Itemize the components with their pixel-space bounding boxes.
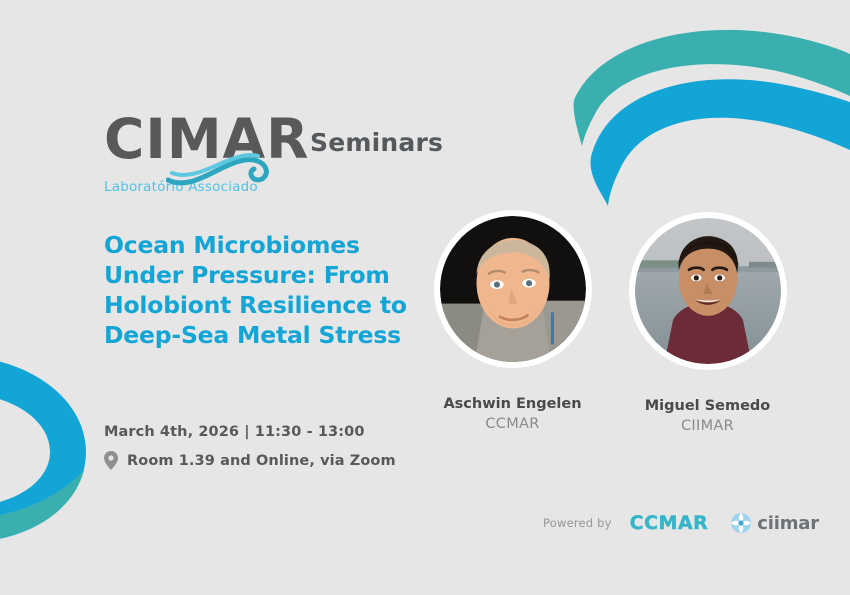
event-location-row: Room 1.39 and Online, via Zoom (104, 451, 396, 470)
speaker-affiliation: CCMAR (485, 416, 539, 432)
powered-by-label: Powered by (543, 516, 612, 530)
event-datetime: March 4th, 2026 | 11:30 - 13:00 (104, 424, 396, 440)
event-meta: March 4th, 2026 | 11:30 - 13:00 Room 1.3… (104, 424, 396, 470)
wave-top-teal (574, 30, 850, 146)
cimar-wave-icon (166, 148, 286, 188)
wave-bottom-teal (0, 470, 84, 543)
event-location: Room 1.39 and Online, via Zoom (127, 453, 396, 469)
seminar-poster: CIMAR Laboratório Associado Seminars Oce… (0, 0, 850, 595)
ciimar-globe-icon (730, 512, 752, 534)
portrait-aschwin-engelen (440, 216, 586, 362)
speaker-card: Aschwin Engelen CCMAR (430, 210, 595, 434)
talk-title: Ocean Microbiomes Under Pressure: From H… (104, 230, 424, 350)
portrait-miguel-semedo (635, 218, 781, 364)
wave-top-cyan (591, 79, 850, 206)
ciimar-logo: ciimar (730, 512, 819, 534)
speakers-section: Aschwin Engelen CCMAR (430, 210, 790, 434)
cimar-logo: CIMAR Laboratório Associado (104, 112, 294, 195)
ciimar-wordmark: ciimar (757, 513, 819, 534)
speaker-affiliation: CIIMAR (681, 418, 734, 434)
speaker-name: Aschwin Engelen (443, 396, 581, 412)
wave-bottom-cyan (0, 356, 86, 542)
seminars-label: Seminars (310, 128, 443, 157)
speaker-name: Miguel Semedo (645, 398, 771, 414)
avatar (629, 212, 787, 370)
avatar (434, 210, 592, 368)
brand-block: CIMAR Laboratório Associado Seminars (104, 112, 443, 195)
footer-powered-by: Powered by CCMAR ciimar (543, 512, 819, 534)
speaker-card: Miguel Semedo CIIMAR (625, 212, 790, 434)
map-pin-icon (104, 451, 118, 470)
ccmar-logo: CCMAR (630, 512, 709, 534)
